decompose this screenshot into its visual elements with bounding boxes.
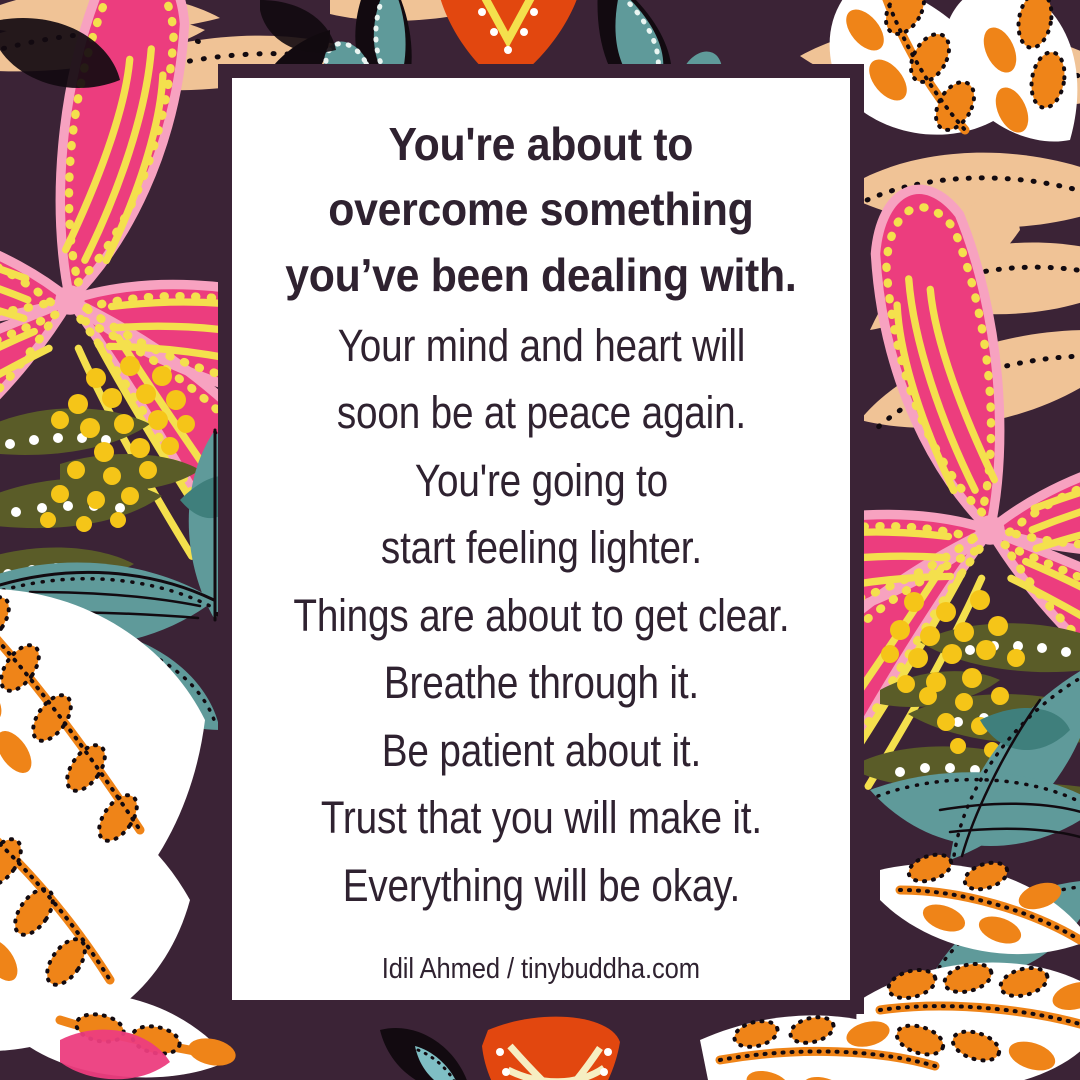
headline-line-2: overcome something <box>285 177 796 242</box>
headline-line-3: you’ve been dealing with. <box>285 243 796 308</box>
body-line-3: You're going to <box>293 447 789 515</box>
headline-line-1: You're about to <box>285 112 796 177</box>
body-line-7: Be patient about it. <box>293 717 789 785</box>
quote-attribution: Idil Ahmed / tinybuddha.com <box>382 953 700 986</box>
quote-headline: You're about to overcome something you’v… <box>285 112 796 308</box>
body-line-2: soon be at peace again. <box>293 379 789 447</box>
body-line-5: Things are about to get clear. <box>293 582 789 650</box>
body-line-1: Your mind and heart will <box>293 312 789 380</box>
quote-card: You're about to overcome something you’v… <box>232 78 850 1000</box>
body-line-8: Trust that you will make it. <box>293 784 789 852</box>
quote-body: Your mind and heart will soon be at peac… <box>253 312 830 920</box>
quote-poster: You're about to overcome something you’v… <box>0 0 1080 1080</box>
body-line-4: start feeling lighter. <box>293 514 789 582</box>
body-line-6: Breathe through it. <box>293 649 789 717</box>
body-line-9: Everything will be okay. <box>293 852 789 920</box>
